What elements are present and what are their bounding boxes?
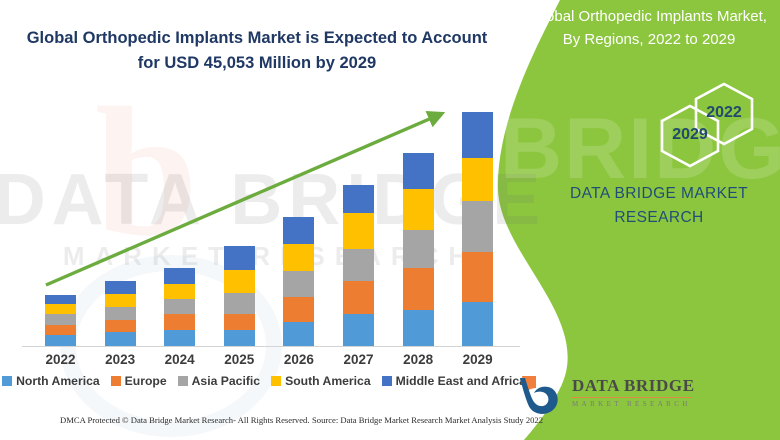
- logo-name: DATA BRIDGE: [572, 376, 695, 396]
- right-panel-title-line1: Global Orthopedic Implants Market,: [520, 6, 778, 29]
- x-label-2024: 2024: [150, 352, 210, 367]
- logo-divider: [572, 397, 692, 398]
- legend-item-asia-pacific: Asia Pacific: [178, 374, 260, 388]
- legend-label: Asia Pacific: [192, 374, 260, 388]
- legend-label: Europe: [125, 374, 167, 388]
- bar-segment-north-america: [45, 335, 76, 346]
- x-axis-labels: 20222023202420252026202720282029: [0, 352, 540, 372]
- bar-segment-north-america: [164, 330, 195, 347]
- bar-2029: [462, 112, 493, 346]
- legend-item-south-america: South America: [271, 374, 371, 388]
- legend-item-europe: Europe: [111, 374, 167, 388]
- bar-segment-north-america: [403, 310, 434, 346]
- bar-segment-south-america: [403, 189, 434, 231]
- right-panel-title-line2: By Regions, 2022 to 2029: [520, 29, 778, 52]
- legend-label: North America: [16, 374, 100, 388]
- logo-tagline: MARKET RESEARCH: [572, 400, 695, 408]
- bar-segment-middle-east-and-africa: [343, 185, 374, 213]
- hexagon-2022-label: 2022: [694, 104, 754, 122]
- bar-2026: [283, 217, 314, 346]
- bar-segment-south-america: [462, 158, 493, 202]
- bar-segment-europe: [224, 314, 255, 331]
- bar-segment-middle-east-and-africa: [105, 281, 136, 294]
- bar-segment-asia-pacific: [164, 299, 195, 314]
- bar-segment-middle-east-and-africa: [403, 153, 434, 189]
- x-label-2023: 2023: [90, 352, 150, 367]
- bar-segment-europe: [283, 297, 314, 321]
- data-bridge-logo: DATA BRIDGE MARKET RESEARCH: [512, 372, 712, 418]
- x-label-2028: 2028: [388, 352, 448, 367]
- right-panel-brand: DATA BRIDGE MARKET RESEARCH: [540, 182, 778, 230]
- x-label-2025: 2025: [209, 352, 269, 367]
- bar-segment-south-america: [164, 284, 195, 300]
- legend-swatch-icon: [111, 376, 121, 386]
- legend-item-north-america: North America: [2, 374, 100, 388]
- x-label-2026: 2026: [269, 352, 329, 367]
- x-label-2027: 2027: [329, 352, 389, 367]
- bar-segment-north-america: [283, 322, 314, 346]
- bar-segment-asia-pacific: [462, 201, 493, 251]
- legend-swatch-icon: [2, 376, 12, 386]
- footer: DMCA Protected © Data Bridge Market Rese…: [0, 415, 540, 435]
- legend-swatch-icon: [271, 376, 281, 386]
- bar-segment-asia-pacific: [105, 307, 136, 320]
- bar-segment-asia-pacific: [224, 293, 255, 314]
- bar-2028: [403, 153, 434, 346]
- bar-segment-europe: [343, 281, 374, 314]
- bar-2022: [45, 295, 76, 346]
- bar-segment-south-america: [224, 270, 255, 292]
- logo-text: DATA BRIDGE MARKET RESEARCH: [572, 376, 695, 408]
- bar-segment-europe: [164, 314, 195, 330]
- legend-label: South America: [285, 374, 371, 388]
- footer-source: Source: Data Bridge Market Research Mark…: [312, 415, 543, 425]
- bar-segment-north-america: [105, 332, 136, 346]
- bar-segment-south-america: [343, 213, 374, 249]
- bar-2025: [224, 246, 255, 346]
- legend-item-middle-east-and-africa: Middle East and Africa: [382, 374, 526, 388]
- legend-swatch-icon: [178, 376, 188, 386]
- bar-2027: [343, 185, 374, 346]
- bar-2023: [105, 281, 136, 346]
- hexagon-2029-label: 2029: [660, 126, 720, 144]
- legend-swatch-icon: [382, 376, 392, 386]
- bar-segment-north-america: [224, 330, 255, 346]
- x-label-2022: 2022: [31, 352, 91, 367]
- bar-segment-europe: [403, 268, 434, 310]
- right-panel-brand-line1: DATA BRIDGE MARKET: [540, 182, 778, 206]
- hexagon-badges: 2022 2029: [660, 80, 780, 170]
- bar-segment-middle-east-and-africa: [224, 246, 255, 270]
- bar-segment-north-america: [462, 302, 493, 346]
- bar-segment-south-america: [45, 304, 76, 314]
- bar-segment-europe: [462, 252, 493, 302]
- right-panel-brand-line2: RESEARCH: [540, 206, 778, 230]
- bar-segment-south-america: [283, 244, 314, 271]
- chart-legend: North AmericaEuropeAsia PacificSouth Ame…: [14, 374, 514, 388]
- infographic-root: b DATA BRIDGE MARKET RESEARCH Global Ort…: [0, 0, 780, 440]
- bar-segment-asia-pacific: [283, 271, 314, 297]
- footer-copyright: DMCA Protected © Data Bridge Market Rese…: [60, 415, 310, 425]
- legend-label: Middle East and Africa: [396, 374, 526, 388]
- bar-2024: [164, 268, 195, 346]
- bar-segment-europe: [105, 320, 136, 333]
- bar-segment-south-america: [105, 294, 136, 308]
- bar-segment-europe: [45, 325, 76, 336]
- bar-segment-middle-east-and-africa: [462, 112, 493, 158]
- bar-segment-middle-east-and-africa: [164, 268, 195, 284]
- bar-segment-north-america: [343, 314, 374, 346]
- bar-segment-asia-pacific: [45, 314, 76, 325]
- bar-segment-asia-pacific: [403, 230, 434, 268]
- bar-segment-asia-pacific: [343, 249, 374, 281]
- bar-segment-middle-east-and-africa: [45, 295, 76, 305]
- logo-mark-icon: [512, 372, 568, 418]
- right-panel-title: Global Orthopedic Implants Market, By Re…: [520, 6, 778, 51]
- x-label-2029: 2029: [448, 352, 508, 367]
- bar-segment-middle-east-and-africa: [283, 217, 314, 244]
